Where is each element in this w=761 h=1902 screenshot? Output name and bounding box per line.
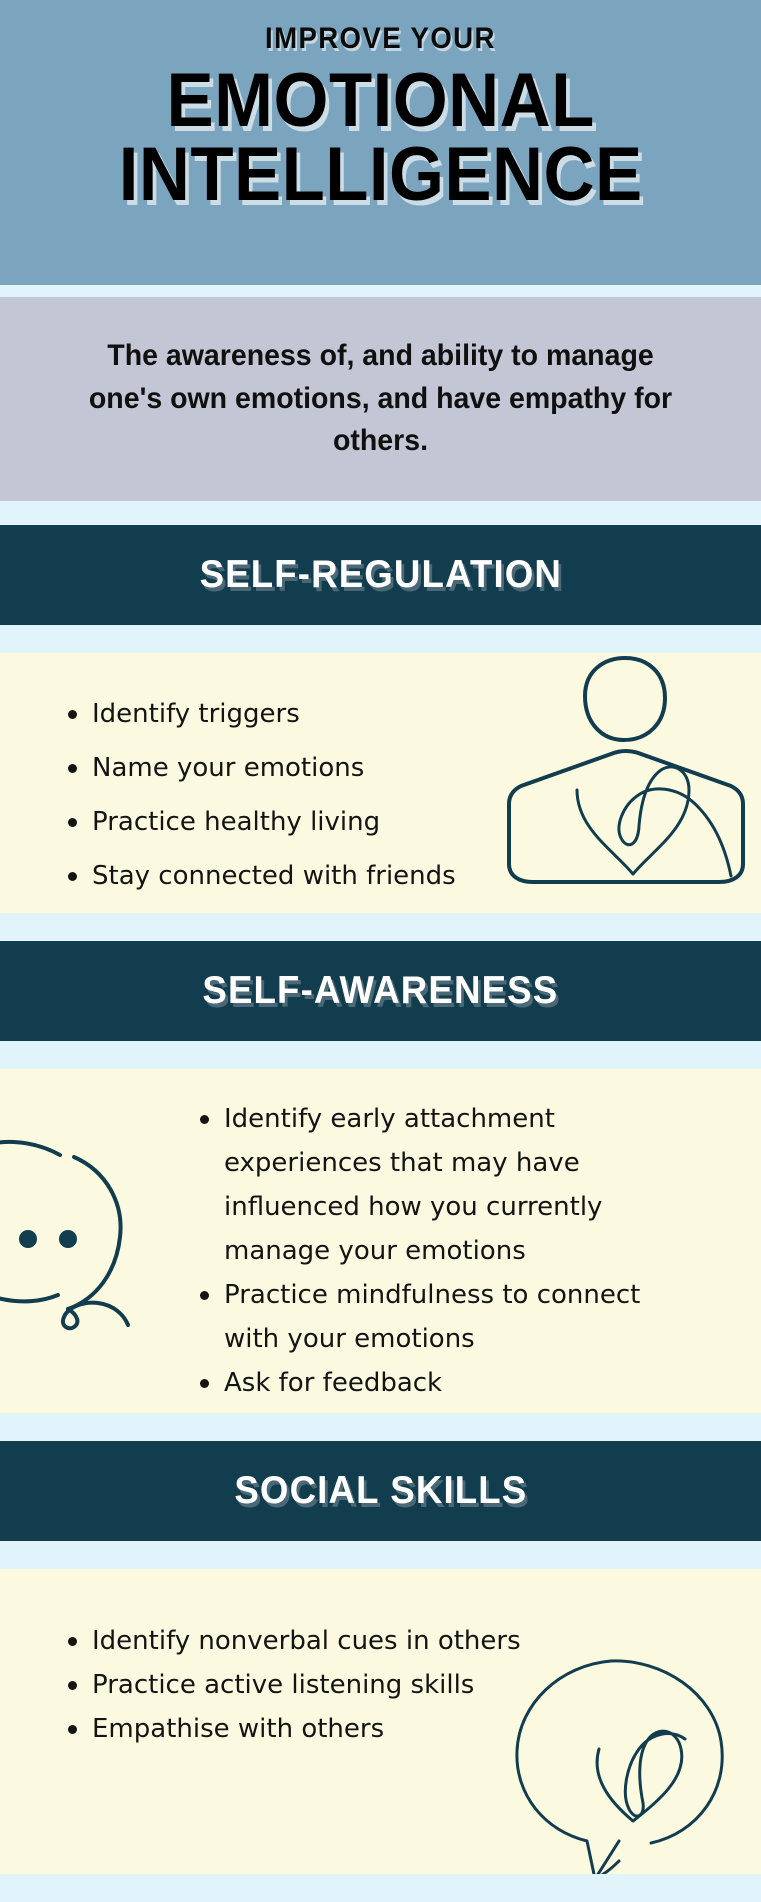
bullet-list-self-regulation: Identify triggers Name your emotions Pra… — [58, 687, 761, 903]
list-item: Name your emotions — [58, 741, 761, 795]
speech-bubble-ellipsis-icon — [0, 1109, 178, 1369]
divider-gap-3 — [0, 625, 761, 653]
poster-header: IMPROVE YOUR EMOTIONAL INTELLIGENCE — [0, 0, 761, 285]
section-header-self-awareness: SELF-AWARENESS — [0, 941, 761, 1041]
section-content-self-regulation: Identify triggers Name your emotions Pra… — [0, 653, 761, 913]
divider-gap-1 — [0, 285, 761, 297]
divider-gap-6 — [0, 1413, 761, 1441]
page-title-line-1: EMOTIONAL — [119, 64, 643, 138]
definition-text: The awareness of, and ability to manage … — [68, 335, 692, 463]
list-item: Practice active listening skills — [58, 1663, 761, 1707]
infographic-poster: IMPROVE YOUR EMOTIONAL INTELLIGENCE The … — [0, 0, 761, 1902]
section-content-self-awareness: Identify early attachment experiences th… — [0, 1069, 761, 1413]
list-item: Ask for feedback — [190, 1361, 690, 1405]
section-content-social-skills: Identify nonverbal cues in others Practi… — [0, 1569, 761, 1874]
list-item: Identify nonverbal cues in others — [58, 1619, 761, 1663]
section-title-self-regulation: SELF-REGULATION — [199, 553, 561, 597]
section-header-social-skills: SOCIAL SKILLS — [0, 1441, 761, 1541]
list-item: Practice healthy living — [58, 795, 761, 849]
divider-gap-8 — [0, 1874, 761, 1902]
section-title-self-awareness: SELF-AWARENESS — [203, 969, 559, 1013]
list-item: Identify early attachment experiences th… — [190, 1097, 690, 1273]
divider-gap-5 — [0, 1041, 761, 1069]
page-title: EMOTIONAL INTELLIGENCE — [119, 64, 643, 211]
list-item: Identify triggers — [58, 687, 761, 741]
header-kicker: IMPROVE YOUR — [265, 24, 496, 54]
section-title-social-skills: SOCIAL SKILLS — [234, 1469, 527, 1513]
list-item: Practice mindfulness to connect with you… — [190, 1273, 690, 1361]
bullet-list-social-skills: Identify nonverbal cues in others Practi… — [58, 1619, 761, 1751]
section-header-self-regulation: SELF-REGULATION — [0, 525, 761, 625]
bullet-list-self-awareness: Identify early attachment experiences th… — [190, 1097, 690, 1405]
divider-gap-4 — [0, 913, 761, 941]
divider-gap-7 — [0, 1541, 761, 1569]
divider-gap-2 — [0, 501, 761, 525]
list-item: Stay connected with friends — [58, 849, 761, 903]
page-title-line-2: INTELLIGENCE — [119, 138, 643, 212]
list-item: Empathise with others — [58, 1707, 761, 1751]
definition-block: The awareness of, and ability to manage … — [0, 297, 761, 501]
